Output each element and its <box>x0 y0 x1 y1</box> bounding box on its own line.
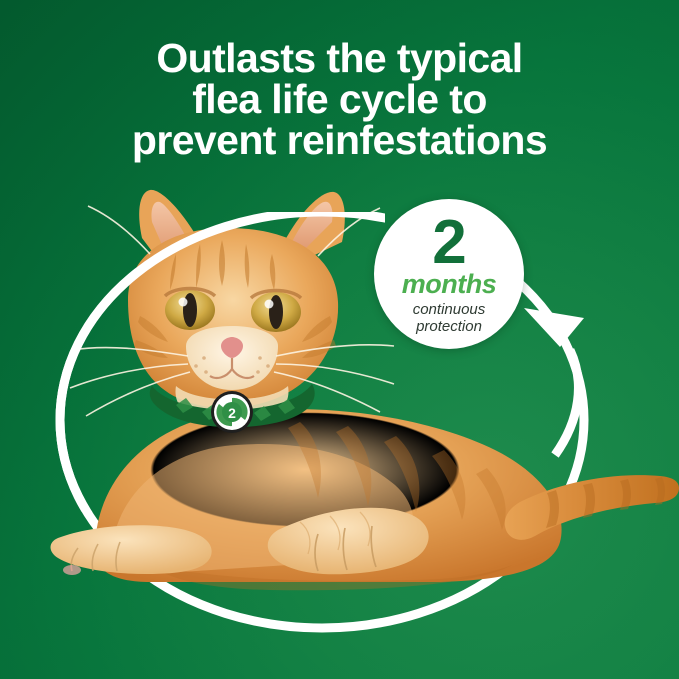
badge-subtitle: continuous protection <box>413 301 486 335</box>
badge-number: 2 <box>432 217 465 269</box>
svg-text:2: 2 <box>228 405 236 421</box>
cat-head <box>70 190 394 426</box>
product-banner: Outlasts the typical flea life cycle to … <box>0 0 679 679</box>
collar-tag: 2 <box>211 391 253 433</box>
badge-subtitle-line-1: continuous <box>413 301 486 318</box>
headline-line-1: Outlasts the typical <box>0 38 679 79</box>
headline-line-3: prevent reinfestations <box>0 120 679 161</box>
badge-subtitle-line-2: protection <box>413 318 486 335</box>
page-title: Outlasts the typical flea life cycle to … <box>0 38 679 161</box>
duration-badge: 2 months continuous protection <box>374 199 524 349</box>
badge-unit: months <box>402 270 497 298</box>
headline-line-2: flea life cycle to <box>0 79 679 120</box>
cat-photo: 2 <box>0 150 679 620</box>
